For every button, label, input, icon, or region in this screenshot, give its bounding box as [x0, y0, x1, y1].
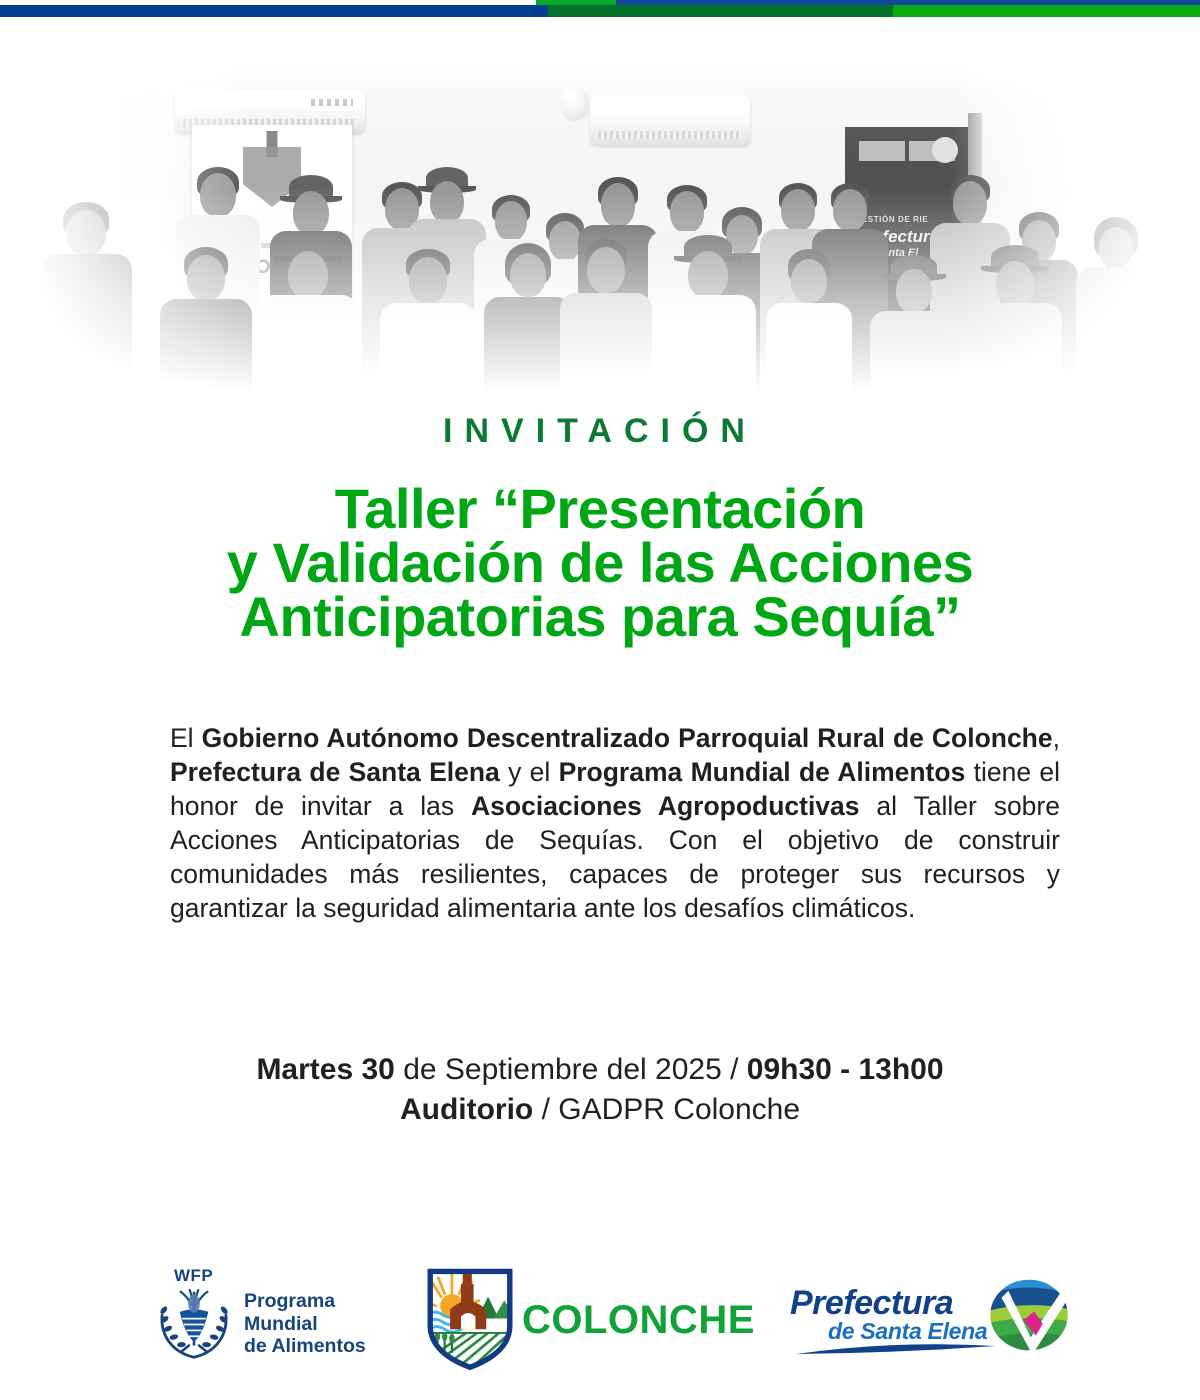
logo-row: WFP: [0, 1262, 1200, 1382]
wfp-line-2: Mundial: [244, 1313, 366, 1336]
title-line-1: Taller “Presentación: [0, 482, 1200, 536]
topbar-dark-green-segment: [548, 5, 893, 17]
paragraph-emphasis: Programa Mundial de Alimentos: [559, 757, 966, 787]
topbar: [0, 5, 1200, 17]
page-title: Taller “Presentación y Validación de las…: [0, 482, 1200, 644]
event-date-bold: Martes 30: [256, 1053, 394, 1086]
event-date-rest: de Septiembre del 2025 /: [395, 1053, 747, 1086]
event-venue-bold: Auditorio: [400, 1093, 533, 1126]
paragraph-emphasis: Gobierno Autónomo Descentralizado Parroq…: [202, 723, 1053, 753]
paragraph-emphasis: Prefectura de Santa Elena: [170, 757, 500, 787]
paragraph-text: y el: [500, 757, 559, 787]
invitation-paragraph: El Gobierno Autónomo Descentralizado Par…: [170, 721, 1060, 925]
group-photo: COLONCHE GESTIÓN DE RIE Prefectura de Sa…: [0, 17, 1200, 447]
topbar-blue-segment: [0, 5, 548, 17]
paragraph-text: El: [170, 723, 202, 753]
wfp-line-3: de Alimentos: [244, 1335, 366, 1358]
event-venue-rest: / GADPR Colonche: [533, 1093, 800, 1126]
topbar-bright-green-segment: [893, 5, 1200, 17]
paragraph-emphasis: Asociaciones Agropoductivas: [471, 791, 859, 821]
invitation-kicker: INVITACIÓN: [0, 412, 1200, 451]
paragraph-text: ,: [1053, 723, 1060, 753]
event-venue-line: Auditorio / GADPR Colonche: [0, 1090, 1200, 1130]
colonche-wordmark: COLONCHE: [522, 1298, 755, 1343]
event-datetime-line: Martes 30 de Septiembre del 2025 / 09h30…: [0, 1050, 1200, 1090]
wfp-logo: WFP: [152, 1268, 372, 1372]
group-photo-image: COLONCHE GESTIÓN DE RIE Prefectura de Sa…: [0, 17, 1200, 447]
event-time: 09h30 - 13h00: [747, 1053, 944, 1086]
prefectura-emblem-icon: [986, 1272, 1072, 1358]
prefectura-swoosh-icon: [796, 1344, 996, 1356]
prefectura-logo: Prefectura de Santa Elena: [790, 1266, 1070, 1376]
wfp-line-1: Programa: [244, 1290, 366, 1313]
prefectura-subwordmark: de Santa Elena: [828, 1318, 987, 1345]
wfp-wordmark: Programa Mundial de Alimentos: [244, 1290, 366, 1358]
photo-fade-bottom: [0, 187, 1200, 447]
colonche-logo: COLONCHE: [424, 1262, 744, 1378]
invitation-poster: COLONCHE GESTIÓN DE RIE Prefectura de Sa…: [0, 0, 1200, 1400]
air-conditioner-icon: [590, 95, 750, 145]
title-line-2: y Validación de las Acciones: [0, 536, 1200, 590]
title-line-3: Anticipatorias para Sequía”: [0, 590, 1200, 644]
event-details: Martes 30 de Septiembre del 2025 / 09h30…: [0, 1050, 1200, 1130]
wfp-wreath-icon: [152, 1280, 236, 1364]
colonche-shield-icon: [424, 1266, 516, 1370]
